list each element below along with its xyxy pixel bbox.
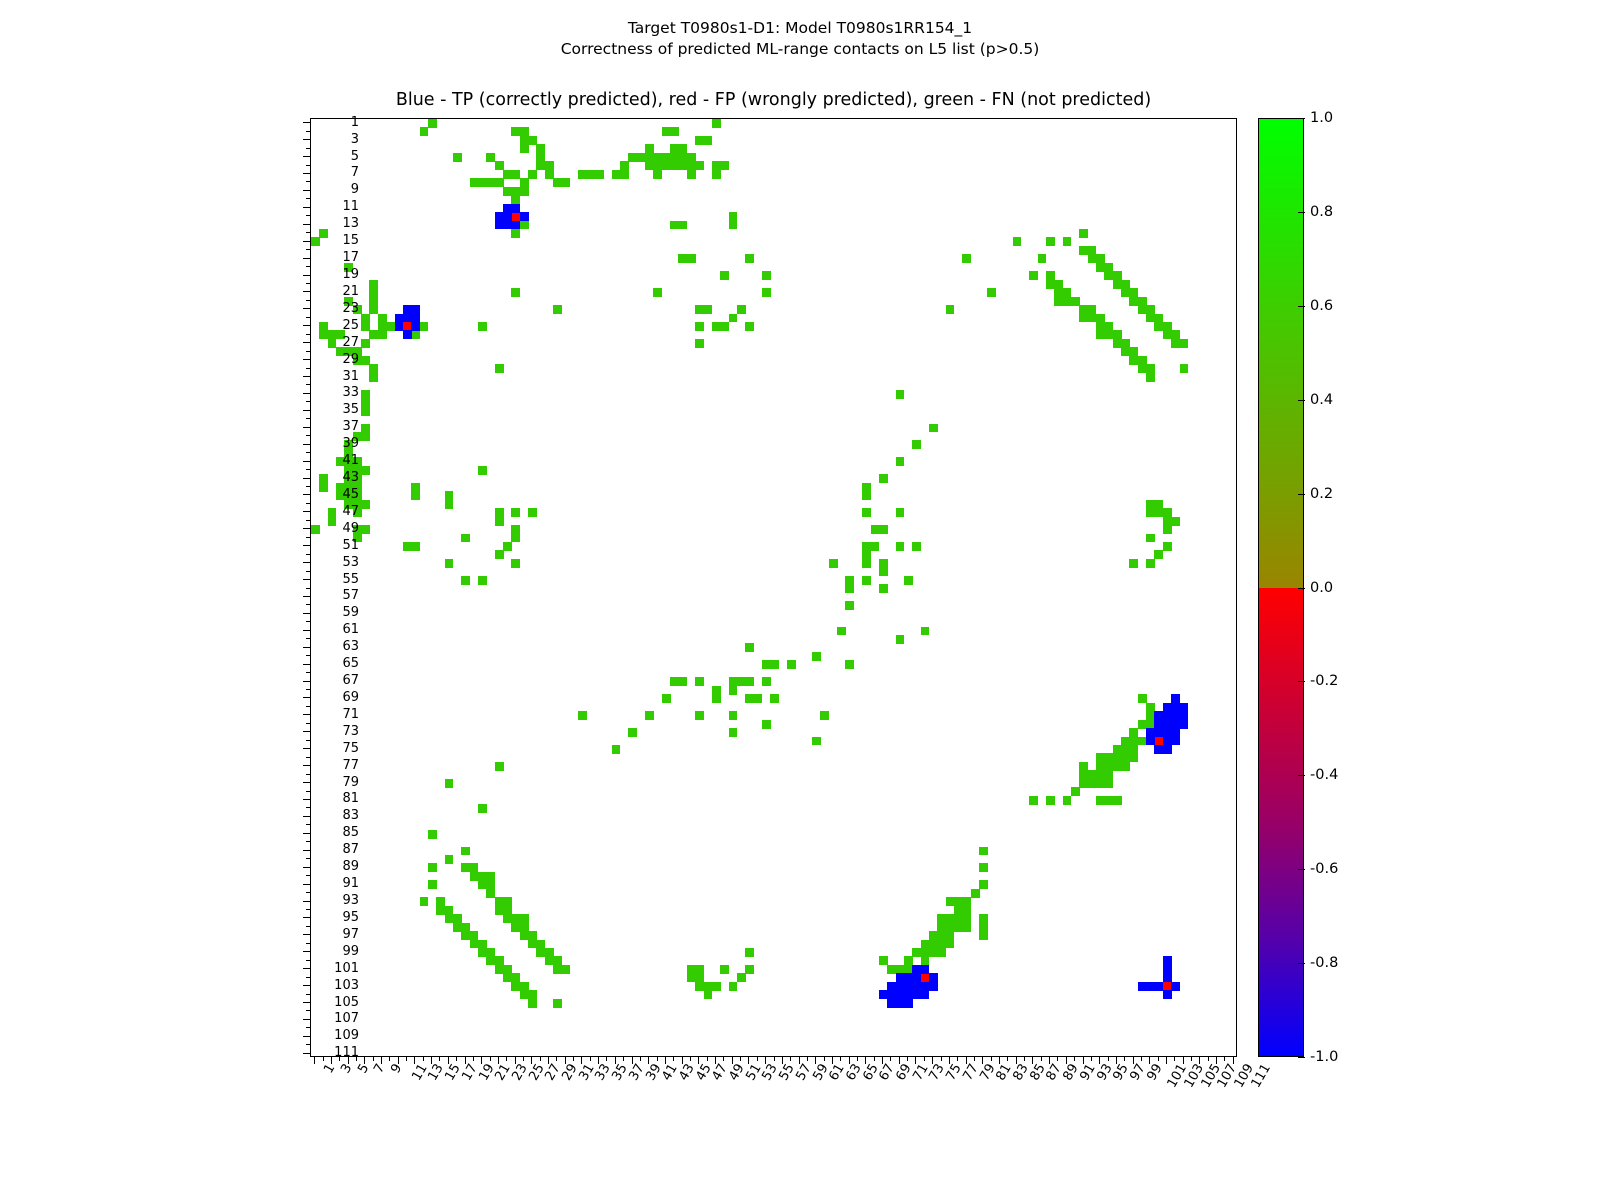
contact-cell-fn [620,170,629,179]
x-tick-mark [1007,1057,1008,1061]
title-line-1: Target T0980s1-D1: Model T0980s1RR154_1 [0,18,1600,39]
x-tick-mark [640,1057,641,1061]
contact-cell-fn [420,897,429,906]
contact-cell-fn [770,660,779,669]
contact-cell-fn [1029,271,1038,280]
contact-cell-fn [762,288,771,297]
y-tick-mark [306,909,310,910]
contact-cell-fn [520,221,529,230]
contact-cell-fn [520,178,529,187]
y-tick-label: 15 [319,234,359,247]
y-tick-mark [306,351,310,352]
x-tick-mark [523,1057,524,1061]
contact-cell-fn [979,863,988,872]
y-tick-mark [303,207,310,208]
x-tick-mark [1174,1057,1175,1061]
contact-cell-fn [1096,796,1105,805]
contact-cell-fn [411,542,420,551]
y-tick-label: 39 [319,437,359,450]
contact-cell-fn [453,153,462,162]
x-tick-mark [824,1057,825,1061]
x-tick-mark [673,1057,674,1061]
contact-cell-fn [762,720,771,729]
contact-cell-fn [445,559,454,568]
contact-cell-fn [1180,364,1189,373]
x-tick-mark [1158,1057,1159,1061]
x-tick-label: 57 [794,1062,814,1083]
contact-cell-fn [361,500,370,509]
y-tick-mark [303,478,310,479]
y-tick-mark [306,317,310,318]
contact-cell-fn [1113,796,1122,805]
y-tick-mark [303,647,310,648]
contact-cell-fn [979,847,988,856]
y-tick-mark [306,1010,310,1011]
contact-cell-fn [1096,753,1105,762]
contact-cell-fn [1096,330,1105,339]
y-tick-mark [306,368,310,369]
y-tick-mark [306,300,310,301]
y-tick-mark [303,562,310,563]
y-tick-mark [303,308,310,309]
x-tick-mark [556,1057,557,1061]
y-tick-label: 29 [319,353,359,366]
y-tick-mark [303,765,310,766]
contact-cell-fn [737,677,746,686]
x-tick-mark [373,1057,374,1061]
contact-cell-fn [612,170,621,179]
contact-cell-fn [428,830,437,839]
contact-cell-fn [1146,364,1155,373]
contact-cell-fn [787,660,796,669]
y-tick-mark [306,384,310,385]
contact-cell-fn [762,677,771,686]
contact-cell-fn [1121,762,1130,771]
contact-cell-fn [695,161,704,170]
contact-cell-fn [862,559,871,568]
figure-title: Target T0980s1-D1: Model T0980s1RR154_1 … [0,18,1600,60]
contact-cell-fn [520,144,529,153]
y-tick-label: 85 [319,826,359,839]
x-tick-label: 43 [677,1062,697,1083]
y-tick-mark [303,494,310,495]
contact-cell-fn [1104,779,1113,788]
contact-cell-fn [762,271,771,280]
contact-cell-fn [361,525,370,534]
contact-cell-fn [461,847,470,856]
colorbar-tick-label: 0.0 [1310,581,1333,595]
x-tick-mark [907,1057,908,1061]
y-tick-mark [303,528,310,529]
contact-cell-fn [1129,753,1138,762]
contact-cell-fn [445,855,454,864]
y-tick-label: 7 [319,166,359,179]
contact-cell-fn [1171,339,1180,348]
y-tick-mark [306,960,310,961]
x-tick-mark [1166,1057,1167,1064]
y-tick-mark [303,901,310,902]
contact-cell-fn [812,652,821,661]
colorbar-tick-label: -0.2 [1310,674,1338,688]
contact-cell-fn [879,584,888,593]
y-tick-mark [306,807,310,808]
contact-cell-fn [1054,280,1063,289]
y-tick-mark [306,266,310,267]
x-tick-mark [957,1057,958,1061]
y-tick-label: 99 [319,945,359,958]
contact-cell-fn [962,923,971,932]
y-tick-mark [306,181,310,182]
contact-cell-fn [737,973,746,982]
y-tick-mark [306,706,310,707]
contact-cell-fn [946,940,955,949]
y-tick-mark [306,977,310,978]
y-tick-label: 5 [319,150,359,163]
y-tick-label: 79 [319,776,359,789]
contact-cell-fn [695,711,704,720]
contact-cell-fn [1180,339,1189,348]
y-tick-label: 75 [319,742,359,755]
contact-cell-tp [1163,965,1172,974]
y-tick-mark [306,841,310,842]
contact-cell-fn [436,897,445,906]
contact-cell-fn [929,424,938,433]
x-tick-mark [723,1057,724,1061]
y-tick-label: 73 [319,725,359,738]
contact-cell-fn [896,508,905,517]
contact-cell-fn [904,576,913,585]
y-tick-label: 51 [319,539,359,552]
contact-cell-fn [770,694,779,703]
contact-cell-fn [971,889,980,898]
contact-cell-fn [1046,796,1055,805]
contact-cell-fn [712,119,721,128]
contact-cell-fn [445,779,454,788]
colorbar-tick-label: 0.8 [1310,205,1333,219]
contact-cell-fn [979,931,988,940]
y-tick-mark [303,241,310,242]
contact-cell-fn [1079,246,1088,255]
y-tick-mark [303,461,310,462]
y-tick-label: 55 [319,573,359,586]
colorbar-tick-label: -0.4 [1310,768,1338,782]
contact-cell-fn [896,542,905,551]
contact-cell-fn [495,762,504,771]
x-tick-mark [531,1057,532,1064]
x-tick-mark [757,1057,758,1061]
contact-cell-fn [1038,254,1047,263]
contact-cell-fn [653,288,662,297]
y-tick-mark [303,697,310,698]
y-tick-mark [303,224,310,225]
x-tick-mark [573,1057,574,1061]
x-tick-mark [707,1057,708,1061]
y-tick-label: 45 [319,488,359,501]
x-tick-mark [698,1057,699,1064]
x-tick-mark [339,1057,340,1061]
y-tick-label: 87 [319,843,359,856]
colorbar-tick-label: 0.4 [1310,393,1333,407]
contact-cell-fn [578,170,587,179]
contact-cell-fn [871,542,880,551]
contact-cell-fn [829,559,838,568]
x-tick-mark [874,1057,875,1061]
colorbar-tick-label: 0.2 [1310,487,1333,501]
y-tick-mark [303,731,310,732]
y-tick-mark [306,824,310,825]
contact-cell-fn [729,711,738,720]
contact-cell-fn [1054,297,1063,306]
x-tick-mark [331,1057,332,1064]
y-tick-label: 17 [319,251,359,264]
contact-cell-fn [369,330,378,339]
x-tick-mark [456,1057,457,1061]
x-tick-mark [1224,1057,1225,1061]
x-tick-mark [1191,1057,1192,1061]
y-tick-mark [306,858,310,859]
contact-cell-fn [812,737,821,746]
contact-cell-tp [411,322,420,331]
y-tick-mark [306,926,310,927]
y-tick-mark [303,748,310,749]
contact-cell-fn [428,119,437,128]
y-tick-mark [306,418,310,419]
y-tick-label: 3 [319,133,359,146]
contact-cell-fn [478,804,487,813]
contact-cell-fn [361,407,370,416]
contact-cell-fn [1163,542,1172,551]
contact-cell-fn [1079,314,1088,323]
contact-cell-fn [478,322,487,331]
colorbar-tick-mark [1298,963,1305,964]
y-tick-label: 47 [319,505,359,518]
x-tick-mark [1057,1057,1058,1061]
x-tick-mark [590,1057,591,1061]
contact-cell-fn [1079,770,1088,779]
y-tick-mark [306,520,310,521]
contact-cell-tp [904,999,913,1008]
contact-cell-fn [845,660,854,669]
contact-cell-fn [712,694,721,703]
y-tick-mark [303,985,310,986]
x-tick-label: 3 [339,1062,354,1076]
y-tick-label: 109 [319,1029,359,1042]
contact-cell-fn [503,897,512,906]
contact-cell-fn [503,914,512,923]
contact-cell-fn [511,508,520,517]
contact-cell-fn [411,491,420,500]
x-tick-label: 23 [510,1062,530,1083]
y-tick-label: 49 [319,522,359,535]
colorbar-tick-mark [1298,588,1305,589]
y-tick-label: 19 [319,268,359,281]
y-tick-mark [306,198,310,199]
contact-cell-fn [653,170,662,179]
x-tick-mark [356,1057,357,1061]
y-tick-mark [303,884,310,885]
contact-cell-tp [1180,720,1189,729]
contact-cell-fn [937,948,946,957]
y-tick-label: 25 [319,319,359,332]
y-tick-mark [303,850,310,851]
contact-cell-fn [1129,297,1138,306]
x-tick-mark [623,1057,624,1061]
contact-cell-fn [879,474,888,483]
contact-cell-fn [1163,525,1172,534]
contact-cell-fn [361,356,370,365]
contact-cell-fn [921,627,930,636]
contact-cell-fn [428,880,437,889]
contact-cell-fn [628,728,637,737]
contact-cell-fn [720,161,729,170]
y-tick-label: 91 [319,877,359,890]
y-tick-mark [303,444,310,445]
y-tick-label: 27 [319,336,359,349]
y-tick-mark [306,452,310,453]
contact-cell-fn [361,424,370,433]
y-tick-mark [303,934,310,935]
y-tick-label: 107 [319,1012,359,1025]
colorbar-tick-label: -0.8 [1310,956,1338,970]
y-tick-mark [306,875,310,876]
y-tick-mark [303,410,310,411]
contact-cell-fn [695,973,704,982]
contact-cell-fn [486,948,495,957]
y-tick-label: 69 [319,691,359,704]
contact-cell-fn [712,170,721,179]
contact-cell-fn [712,982,721,991]
contact-map-axes[interactable] [310,118,1237,1057]
contact-cell-fn [520,914,529,923]
y-tick-label: 101 [319,962,359,975]
contact-cell-fn [361,390,370,399]
contact-cell-fn [1154,550,1163,559]
y-tick-label: 63 [319,640,359,653]
contact-cell-fn [511,288,520,297]
y-tick-mark [303,122,310,123]
y-tick-label: 77 [319,759,359,772]
x-tick-mark [1208,1057,1209,1061]
y-tick-label: 43 [319,471,359,484]
contact-cell-fn [503,965,512,974]
contact-cell-fn [687,254,696,263]
contact-cell-fn [445,500,454,509]
contact-cell-fn [670,127,679,136]
y-tick-mark [303,190,310,191]
x-tick-label: 5 [356,1062,371,1076]
x-tick-mark [473,1057,474,1061]
contact-map-figure: Target T0980s1-D1: Model T0980s1RR154_1 … [0,0,1600,1200]
y-tick-mark [303,156,310,157]
contact-cell-fn [369,373,378,382]
contact-cell-fn [704,136,713,145]
contact-cell-fn [678,161,687,170]
contact-cell-tp [511,221,520,230]
contact-cell-fn [461,534,470,543]
y-tick-mark [303,968,310,969]
y-tick-mark [303,782,310,783]
y-tick-mark [306,994,310,995]
y-tick-mark [306,757,310,758]
x-tick-label: 77 [961,1062,981,1083]
contact-cell-fn [553,999,562,1008]
contact-cell-fn [745,322,754,331]
y-tick-label: 23 [319,302,359,315]
contact-cell-fn [862,576,871,585]
y-tick-label: 11 [319,200,359,213]
y-tick-mark [303,799,310,800]
y-tick-mark [306,791,310,792]
contact-cell-fn [729,314,738,323]
x-tick-mark [364,1057,365,1064]
y-tick-mark [306,604,310,605]
contact-cell-tp [1163,973,1172,982]
y-tick-mark [306,537,310,538]
contact-cell-fn [712,161,721,170]
y-tick-label: 1 [319,116,359,129]
x-tick-mark [389,1057,390,1061]
y-tick-mark [306,131,310,132]
y-tick-mark [303,630,310,631]
contact-cell-fn [495,517,504,526]
contact-cell-tp [1163,956,1172,965]
x-tick-mark [1141,1057,1142,1061]
y-tick-mark [303,139,310,140]
colorbar-tick-label: 1.0 [1310,111,1333,125]
contact-cell-tp [1146,982,1155,991]
contact-cell-fn [1113,280,1122,289]
y-tick-mark [306,892,310,893]
contact-cell-fn [745,965,754,974]
y-tick-label: 95 [319,911,359,924]
y-tick-mark [306,638,310,639]
contact-cell-fn [896,457,905,466]
y-tick-mark [303,359,310,360]
contact-cell-fn [879,567,888,576]
contact-cell-fn [562,178,571,187]
contact-cell-fn [720,271,729,280]
contact-cell-fn [729,982,738,991]
y-tick-mark [303,596,310,597]
colorbar-lower [1258,588,1304,1058]
contact-cell-fn [562,965,571,974]
y-tick-mark [306,655,310,656]
contact-cell-fn [695,322,704,331]
y-tick-label: 61 [319,623,359,636]
contact-cell-fn [486,880,495,889]
contact-cell-fn [979,880,988,889]
x-tick-mark [1041,1057,1042,1061]
colorbar-tick-mark [1298,869,1305,870]
contact-cell-fn [478,576,487,585]
x-tick-mark [774,1057,775,1061]
contact-cell-fn [511,229,520,238]
y-tick-mark [303,342,310,343]
contact-cell-fn [1079,229,1088,238]
y-tick-mark [303,867,310,868]
colorbar-tick-label: -0.6 [1310,862,1338,876]
y-tick-mark [306,334,310,335]
x-tick-mark [506,1057,507,1061]
y-tick-mark [303,291,310,292]
contact-cell-fn [1088,254,1097,263]
y-tick-mark [303,1036,310,1037]
contact-cell-fn [1146,534,1155,543]
contact-cell-fn [962,254,971,263]
y-tick-mark [303,833,310,834]
x-tick-mark [991,1057,992,1061]
title-line-2: Correctness of predicted ML-range contac… [0,39,1600,60]
